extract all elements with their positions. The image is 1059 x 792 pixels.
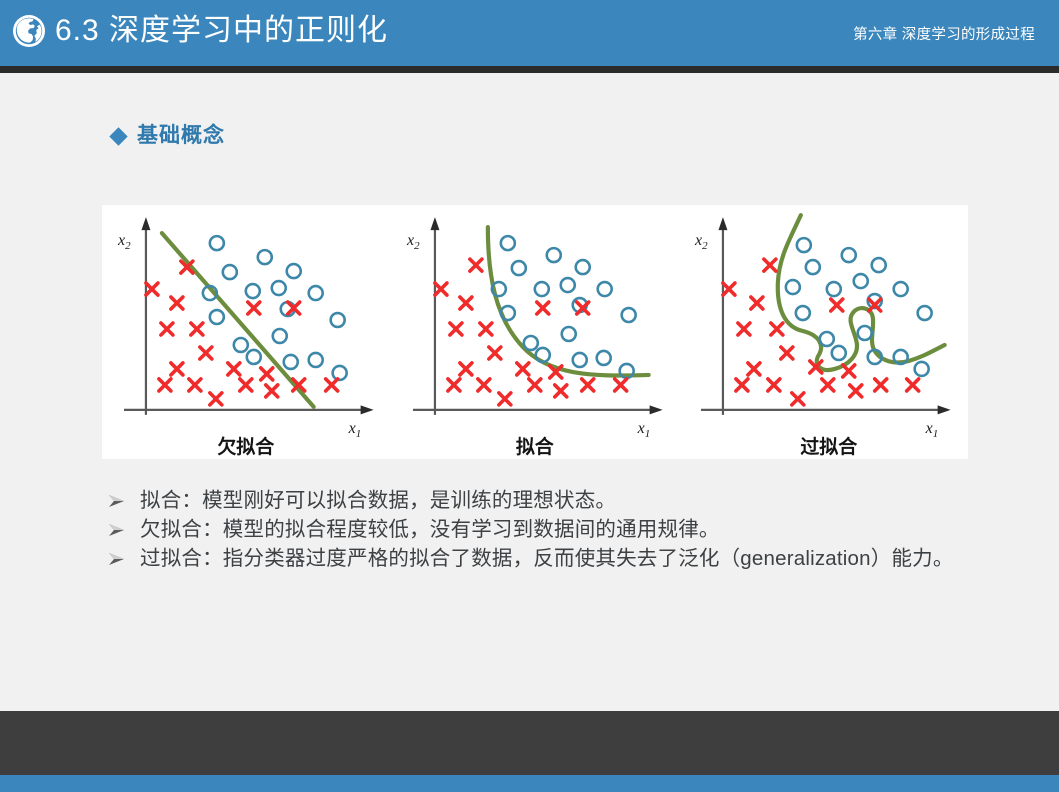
- y-axis-label: x2: [117, 232, 131, 252]
- panel-overfitting: x2 x1: [679, 205, 968, 459]
- diamond-bullet-icon: [109, 127, 127, 145]
- x-axis-label: x1: [348, 420, 362, 440]
- y-axis-arrow: [430, 217, 439, 230]
- arrow-bullet-icon: [108, 487, 140, 514]
- x-axis-arrow: [938, 405, 951, 414]
- panel-caption: 欠拟合: [217, 435, 275, 458]
- page-title: 6.3 深度学习中的正则化: [55, 14, 388, 48]
- list-item: 拟合：模型刚好可以拟合数据，是训练的理想状态。: [108, 487, 1018, 514]
- y-axis-arrow: [141, 217, 150, 230]
- list-item-label: 欠拟合：模型的拟合程度较低，没有学习到数据间的通用规律。: [140, 516, 720, 543]
- cross-markers: [146, 261, 338, 405]
- fitting-comparison-figure: x2 x1: [102, 205, 968, 459]
- panel-underfitting-plot: x2 x1: [102, 205, 391, 459]
- cross-markers: [723, 259, 919, 405]
- panel-overfitting-plot: x2 x1: [679, 205, 968, 459]
- x-axis-arrow: [361, 405, 374, 414]
- y-axis-label: x2: [694, 232, 708, 252]
- panel-underfitting: x2 x1: [102, 205, 391, 459]
- x-axis-label: x1: [636, 420, 650, 440]
- panel-fitting: x2 x1: [391, 205, 680, 459]
- circle-markers: [203, 236, 347, 380]
- section-heading: 基础概念: [112, 124, 225, 148]
- header-bottom-rule: [0, 66, 1059, 73]
- circle-markers: [491, 236, 635, 378]
- list-item: 过拟合：指分类器过度严格的拟合了数据，反而使其失去了泛化（generalizat…: [108, 545, 1018, 572]
- list-item-label: 过拟合：指分类器过度严格的拟合了数据，反而使其失去了泛化（generalizat…: [140, 545, 954, 572]
- footer-accent-band: [0, 775, 1059, 792]
- chapter-label: 第六章 深度学习的形成过程: [853, 26, 1035, 44]
- x-axis-arrow: [649, 405, 662, 414]
- list-item-label: 拟合：模型刚好可以拟合数据，是训练的理想状态。: [140, 487, 616, 514]
- panel-fitting-plot: x2 x1: [391, 205, 680, 459]
- list-item: 欠拟合：模型的拟合程度较低，没有学习到数据间的通用规律。: [108, 516, 1018, 543]
- x-axis-label: x1: [925, 420, 939, 440]
- header-title-group: 6.3 深度学习中的正则化: [12, 14, 388, 48]
- arrow-bullet-icon: [108, 516, 140, 543]
- y-axis-label: x2: [406, 232, 420, 252]
- arrow-bullet-icon: [108, 545, 140, 572]
- section-heading-label: 基础概念: [137, 124, 225, 148]
- panel-caption: 拟合: [515, 435, 554, 458]
- panel-caption: 过拟合: [801, 435, 859, 458]
- slide-header: 6.3 深度学习中的正则化 第六章 深度学习的形成过程: [0, 0, 1059, 73]
- cross-markers: [435, 259, 627, 405]
- y-axis-arrow: [719, 217, 728, 230]
- globe-icon: [12, 14, 46, 48]
- decision-boundary: [162, 233, 314, 407]
- axes: [701, 227, 943, 415]
- concept-bullet-list: 拟合：模型刚好可以拟合数据，是训练的理想状态。 欠拟合：模型的拟合程度较低，没有…: [108, 487, 1018, 574]
- footer-dark-band: [0, 711, 1059, 775]
